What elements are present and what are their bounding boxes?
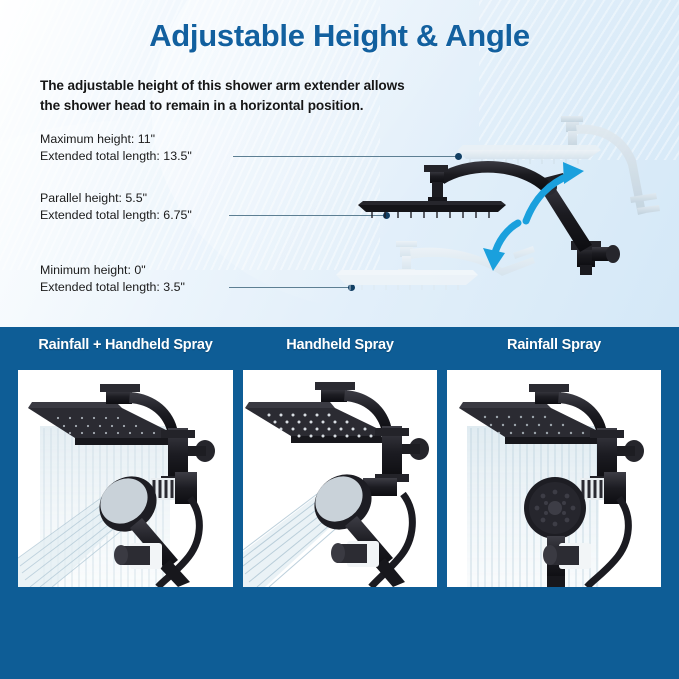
footer-band: [0, 660, 679, 679]
callout-parallel-height: Parallel height: 5.5": [40, 190, 192, 207]
callout-parallel: Parallel height: 5.5" Extended total len…: [40, 190, 192, 223]
infographic-root: Adjustable Height & Angle The adjustable…: [0, 0, 679, 679]
panel-rainfall: [447, 370, 661, 587]
panel-handheld: [243, 370, 437, 587]
bottom-section: Rainfall + Handheld Spray Handheld Spray…: [0, 327, 679, 679]
panel-heading-handheld: Handheld Spray: [243, 337, 437, 353]
intro-line-1: The adjustable height of this shower arm…: [40, 78, 405, 93]
panel-rainfall-handheld: [18, 370, 233, 587]
top-section: Adjustable Height & Angle The adjustable…: [0, 0, 679, 327]
callout-maximum: Maximum height: 11" Extended total lengt…: [40, 131, 192, 164]
panel-heading-rainfall-handheld: Rainfall + Handheld Spray: [18, 337, 233, 353]
panel-heading-rainfall: Rainfall Spray: [447, 337, 661, 353]
callout-minimum-length: Extended total length: 3.5": [40, 279, 185, 296]
page-title: Adjustable Height & Angle: [0, 18, 679, 54]
callout-minimum-height: Minimum height: 0": [40, 262, 185, 279]
product-image-rainfall: [447, 370, 661, 587]
callout-maximum-height: Maximum height: 11": [40, 131, 192, 148]
panel-headings: Rainfall + Handheld Spray Handheld Spray…: [0, 327, 679, 370]
callout-parallel-length: Extended total length: 6.75": [40, 207, 192, 224]
shower-arm-minimum-position-ghost: [336, 241, 535, 290]
product-image-handheld: [243, 370, 437, 587]
callout-minimum: Minimum height: 0" Extended total length…: [40, 262, 185, 295]
product-image-rainfall-handheld: [18, 370, 233, 587]
shower-arm-diagram: [330, 105, 679, 310]
intro-line-2: the shower head to remain in a horizonta…: [40, 98, 363, 113]
callout-maximum-length: Extended total length: 13.5": [40, 148, 192, 165]
